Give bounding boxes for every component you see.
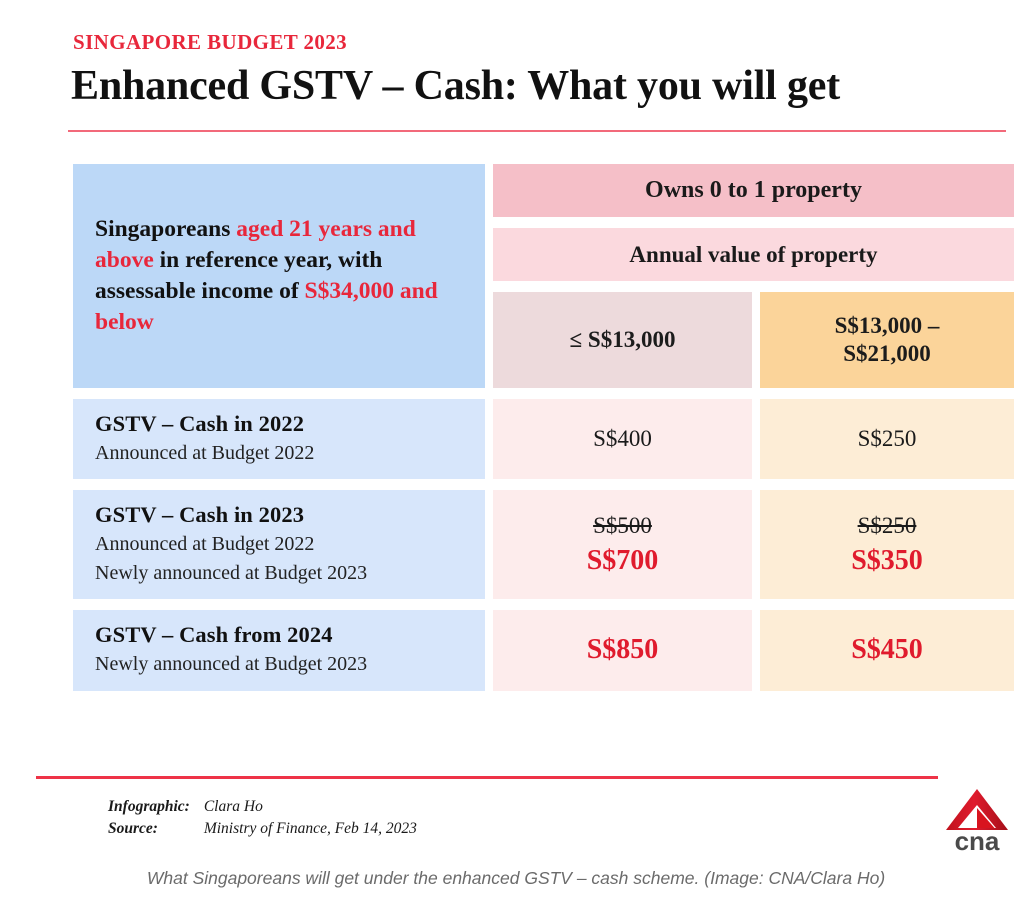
column-header-low-av-label: ≤ S$13,000	[570, 326, 676, 354]
credit-label: Source:	[108, 818, 204, 840]
annual-value-band: Annual value of property	[493, 228, 1014, 281]
kicker-label: SINGAPORE BUDGET 2023	[73, 30, 347, 55]
value-current: S$250	[858, 426, 917, 452]
credit-row: Infographic: Clara Ho	[108, 796, 417, 818]
column-header-high-av-line2: S$21,000	[843, 341, 931, 366]
value-superseded: S$500	[593, 513, 652, 539]
column-header-high-av-line1: S$13,000 –	[835, 313, 940, 338]
footer-divider	[36, 776, 938, 779]
infographic-canvas: SINGAPORE BUDGET 2023 Enhanced GSTV – Ca…	[0, 0, 1024, 901]
image-caption: What Singaporeans will get under the enh…	[36, 868, 996, 889]
table-row: GSTV – Cash from 2024 Newly announced at…	[73, 610, 485, 690]
eligibility-descriptor-text: Singaporeans aged 21 years and above in …	[95, 214, 465, 338]
value-new: S$450	[851, 634, 923, 666]
value-cell-low-av: S$400	[493, 399, 752, 479]
value-current: S$400	[593, 426, 652, 452]
credit-value: Clara Ho	[204, 796, 417, 818]
property-ownership-band: Owns 0 to 1 property	[493, 164, 1014, 217]
credit-row: Source: Ministry of Finance, Feb 14, 202…	[108, 818, 417, 840]
credits-block: Infographic: Clara Ho Source: Ministry o…	[108, 796, 417, 840]
value-new: S$350	[851, 545, 923, 577]
value-new: S$850	[587, 634, 659, 666]
row-title: GSTV – Cash from 2024	[95, 622, 465, 648]
page-title: Enhanced GSTV – Cash: What you will get	[71, 62, 840, 110]
value-cell-high-av: S$250	[760, 399, 1014, 479]
credit-value: Ministry of Finance, Feb 14, 2023	[204, 818, 417, 840]
eligibility-descriptor-cell: Singaporeans aged 21 years and above in …	[73, 164, 485, 388]
value-superseded: S$250	[858, 513, 917, 539]
column-header-low-av: ≤ S$13,000	[493, 292, 752, 388]
column-header-high-av-label: S$13,000 – S$21,000	[835, 312, 940, 368]
row-note: Newly announced at Budget 2023	[95, 650, 465, 678]
row-title: GSTV – Cash in 2023	[95, 502, 465, 528]
cna-logo-mark: cna	[944, 788, 1010, 854]
property-ownership-label: Owns 0 to 1 property	[645, 177, 862, 204]
row-title: GSTV – Cash in 2022	[95, 411, 465, 437]
title-divider	[68, 130, 1006, 132]
cna-wordmark: cna	[955, 826, 1000, 854]
cna-logo: cna	[944, 788, 1010, 854]
value-cell-high-av: S$450	[760, 610, 1014, 690]
column-header-high-av: S$13,000 – S$21,000	[760, 292, 1014, 388]
value-cell-high-av: S$250 S$350	[760, 490, 1014, 599]
row-note: Newly announced at Budget 2023	[95, 559, 465, 587]
annual-value-label: Annual value of property	[629, 242, 877, 268]
value-new: S$700	[587, 545, 659, 577]
value-cell-low-av: S$500 S$700	[493, 490, 752, 599]
credit-label: Infographic:	[108, 796, 204, 818]
table-row: GSTV – Cash in 2022 Announced at Budget …	[73, 399, 485, 479]
value-cell-low-av: S$850	[493, 610, 752, 690]
gstv-table: Singaporeans aged 21 years and above in …	[73, 164, 1006, 691]
row-note: Announced at Budget 2022	[95, 439, 465, 467]
row-note: Announced at Budget 2022	[95, 530, 465, 558]
descriptor-segment-0: Singaporeans	[95, 216, 236, 242]
table-row: GSTV – Cash in 2023 Announced at Budget …	[73, 490, 485, 599]
